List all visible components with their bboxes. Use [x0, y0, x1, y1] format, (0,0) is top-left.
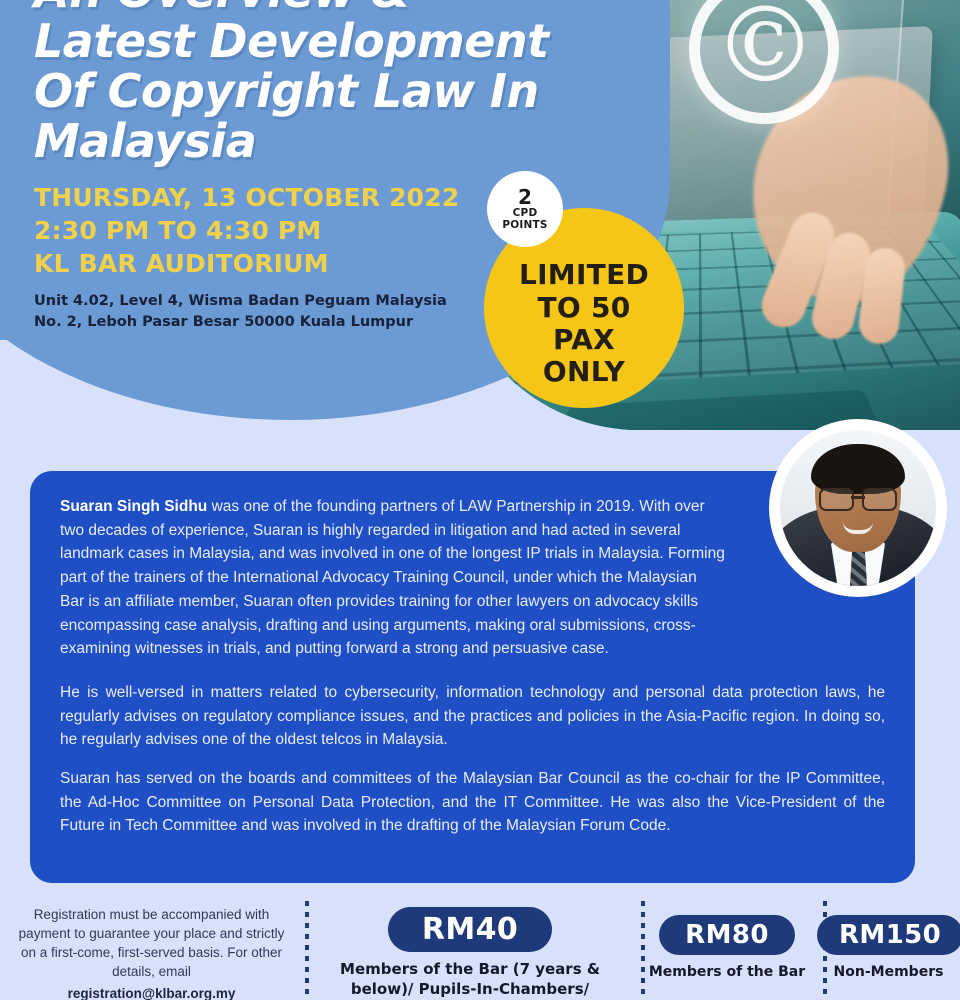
- event-poster: © An Overview & Latest Development Of Co…: [0, 0, 960, 1000]
- bio-paragraph-3: Suaran has served on the boards and comm…: [60, 767, 885, 838]
- cpd-label-line-1: CPD: [513, 208, 538, 219]
- limited-line-2: TO 50: [519, 292, 649, 324]
- footer-divider: [305, 901, 309, 1000]
- price-pill-rm40: RM40: [388, 907, 552, 952]
- speaker-name: Suaran Singh Sidhu: [60, 498, 207, 515]
- cpd-points-value: 2: [518, 187, 532, 208]
- limited-line-3: PAX: [519, 324, 649, 356]
- limited-line-1: LIMITED: [519, 259, 649, 291]
- limited-line-4: ONLY: [519, 356, 649, 388]
- title-line-2: Latest Development: [34, 16, 614, 66]
- registration-email[interactable]: registration@klbar.org.my: [14, 984, 289, 1000]
- speaker-avatar: [774, 424, 942, 592]
- bio-paragraph-1: Suaran Singh Sidhu was one of the foundi…: [60, 495, 885, 661]
- title-line-3: Of Copyright Law In: [34, 66, 614, 116]
- cpd-label-line-2: POINTS: [502, 220, 547, 231]
- avatar-image: [780, 430, 936, 586]
- price-column-rm40: RM40 Members of the Bar (7 years & below…: [303, 893, 637, 1000]
- registration-note-column: Registration must be accompanied with pa…: [0, 893, 303, 1000]
- cpd-points-badge: 2 CPD POINTS: [487, 171, 563, 247]
- footer-pricing-bar: Registration must be accompanied with pa…: [0, 893, 960, 1000]
- price-caption-rm150: Non-Members: [817, 963, 960, 981]
- price-caption-rm40: Members of the Bar (7 years & below)/ Pu…: [303, 960, 637, 1000]
- avatar-hair: [811, 444, 905, 494]
- price-block-rm40: RM40 Members of the Bar (7 years & below…: [303, 899, 637, 1000]
- price-block-rm80: RM80 Members of the Bar: [637, 899, 817, 981]
- price-pill-rm150: RM150: [817, 915, 960, 955]
- footer-divider: [641, 901, 645, 1000]
- page-title: An Overview & Latest Development Of Copy…: [34, 0, 614, 167]
- bio-paragraph-2: He is well-versed in matters related to …: [60, 681, 885, 752]
- price-pill-rm80: RM80: [659, 915, 795, 955]
- copyright-glyph-char: ©: [713, 0, 817, 97]
- price-column-rm150: RM150 Non-Members: [817, 893, 960, 1000]
- bio-paragraph-1-text: was one of the founding partners of LAW …: [60, 498, 725, 657]
- title-line-4: Malaysia: [34, 116, 614, 166]
- price-column-rm80: RM80 Members of the Bar: [637, 893, 817, 1000]
- footer-divider: [823, 901, 827, 1000]
- price-block-rm150: RM150 Non-Members: [817, 899, 960, 981]
- limited-pax-text: LIMITED TO 50 PAX ONLY: [519, 259, 649, 389]
- avatar-glasses-bridge: [851, 496, 865, 499]
- registration-note-text: Registration must be accompanied with pa…: [19, 907, 285, 979]
- price-caption-rm80: Members of the Bar: [637, 963, 817, 981]
- registration-note: Registration must be accompanied with pa…: [0, 899, 303, 1000]
